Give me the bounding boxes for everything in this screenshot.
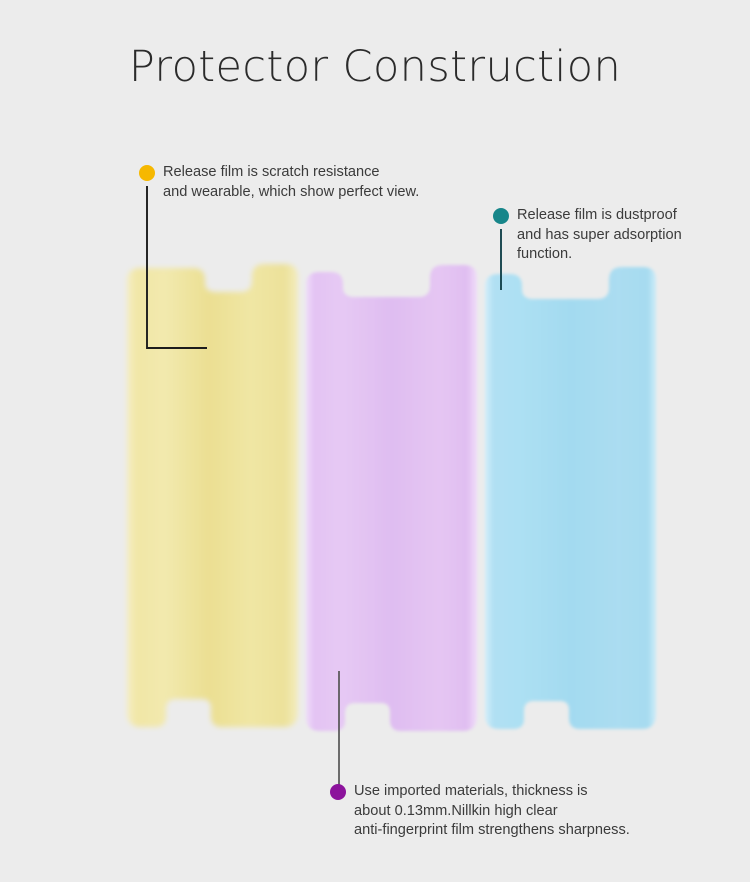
- protector-construction-infographic: Protector Construction: [0, 0, 750, 882]
- film-release-blue: [485, 267, 656, 729]
- callout-text-release-scratch: Release film is scratch resistance and w…: [163, 163, 419, 202]
- callout-dot-purple-icon: [330, 784, 346, 800]
- callout-text-imported-materials: Use imported materials, thickness is abo…: [354, 782, 630, 841]
- callout-dot-teal-icon: [493, 208, 509, 224]
- callout-dot-yellow-icon: [139, 165, 155, 181]
- film-stack: [0, 0, 750, 882]
- callout-text-release-dust: Release film is dustproof and has super …: [517, 206, 682, 265]
- film-protector-pink: [306, 265, 477, 731]
- film-release-yellow: [127, 264, 298, 727]
